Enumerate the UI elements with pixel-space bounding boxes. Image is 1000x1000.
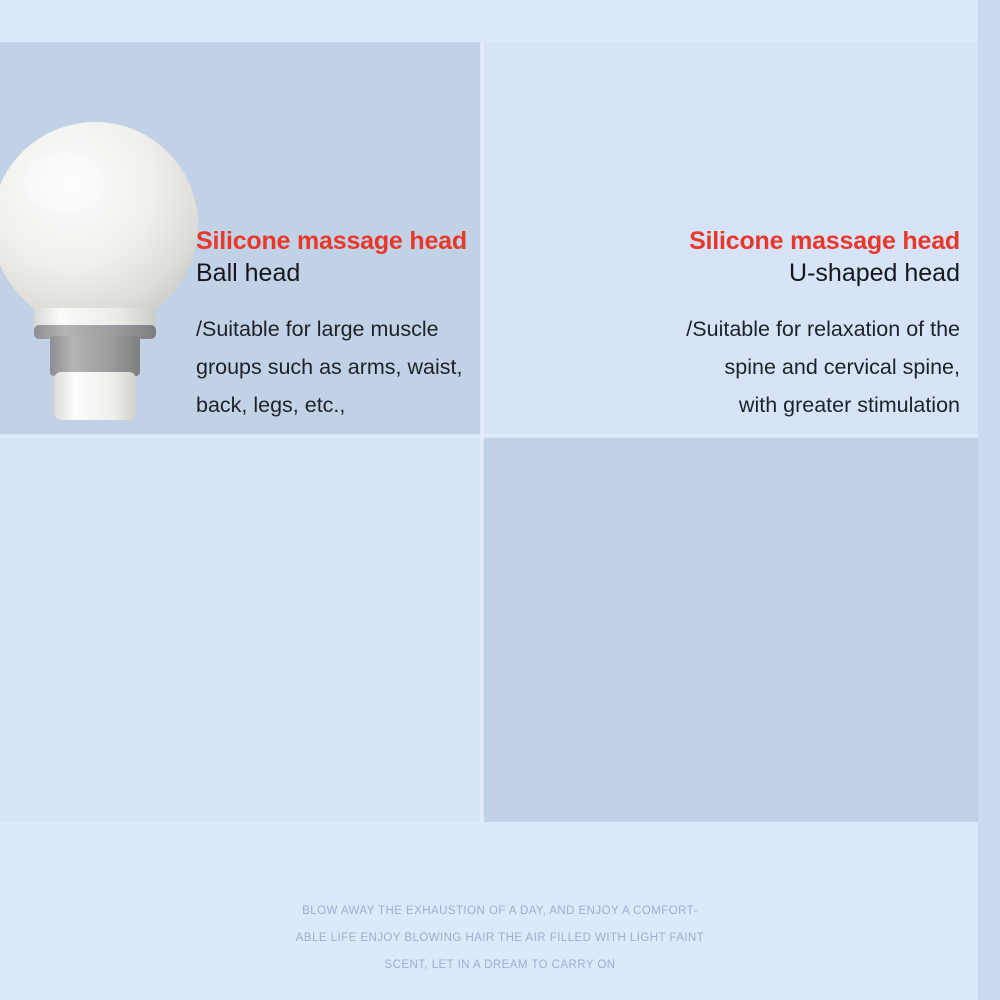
ball-head-text-block: Silicone massage head Ball head /Suitabl…: [196, 228, 467, 436]
panel-air-head: Silicone massage head Air head /Suitable…: [0, 436, 482, 822]
page-right-edge-strip: [978, 0, 1000, 1000]
panel-bullet-head: Silicone massage head Bullet head /Suita…: [482, 436, 978, 822]
product-title: U-shaped head: [686, 260, 960, 288]
product-description: /Suitable for large muscle groups such a…: [196, 310, 467, 436]
product-description: /Suitable for relaxation of the spine an…: [686, 310, 960, 425]
description-line: spine and cervical spine,: [686, 348, 960, 386]
panel-ball-head: Silicone massage head Ball head /Suitabl…: [0, 42, 482, 436]
description-line: /Suitable for relaxation of the: [686, 310, 960, 348]
u-shaped-head-text-block: Silicone massage head U-shaped head /Sui…: [686, 228, 960, 425]
footer-line: BLOW AWAY THE EXHAUSTION OF A DAY, AND E…: [0, 898, 1000, 925]
infographic-page: Silicone massage head Ball head /Suitabl…: [0, 0, 1000, 1000]
ball-head-attachment-icon: [0, 112, 207, 422]
description-line: /Suitable for large muscle: [196, 310, 467, 348]
description-line: groups such as arms, waist,: [196, 348, 467, 386]
panel-u-shaped-head: Silicone massage head U-shaped head /Sui…: [482, 42, 978, 436]
footer-line: ABLE LIFE ENJOY BLOWING HAIR THE AIR FIL…: [0, 925, 1000, 952]
grid-horizontal-divider: [0, 434, 978, 438]
description-line: back, legs, etc.,: [196, 386, 467, 424]
kicker-label: Silicone massage head: [686, 228, 960, 254]
description-line: with greater stimulation: [686, 386, 960, 424]
footer-line: SCENT, LET IN A DREAM TO CARRY ON: [0, 952, 1000, 979]
grid-vertical-divider: [480, 42, 484, 822]
product-grid: Silicone massage head Ball head /Suitabl…: [0, 42, 978, 822]
footer-tagline: BLOW AWAY THE EXHAUSTION OF A DAY, AND E…: [0, 898, 1000, 979]
product-title: Ball head: [196, 260, 467, 288]
kicker-label: Silicone massage head: [196, 228, 467, 254]
